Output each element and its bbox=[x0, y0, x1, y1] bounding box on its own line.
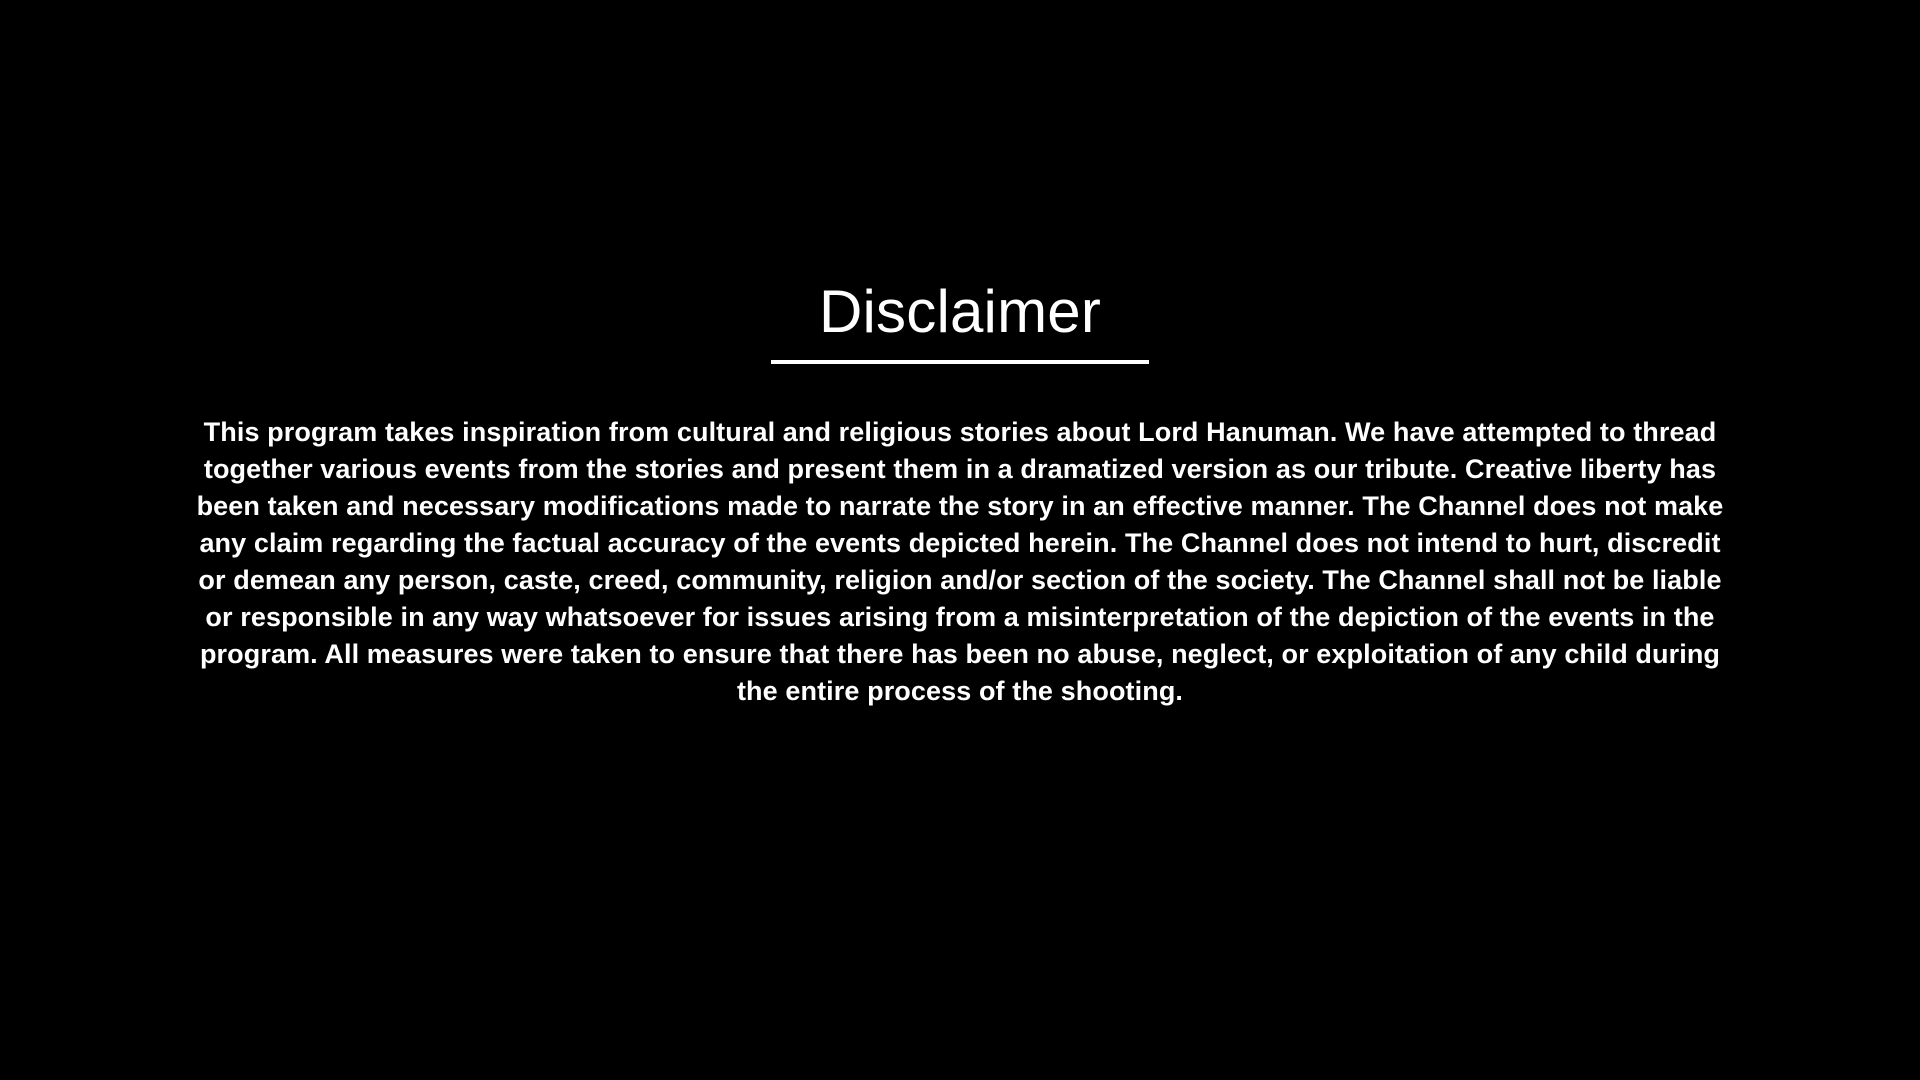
disclaimer-body-text: This program takes inspiration from cult… bbox=[195, 414, 1725, 710]
body-block: This program takes inspiration from cult… bbox=[0, 414, 1920, 710]
page-title: Disclaimer bbox=[0, 278, 1920, 346]
title-block: Disclaimer bbox=[0, 278, 1920, 364]
title-underline-divider bbox=[771, 360, 1149, 364]
disclaimer-slide: Disclaimer This program takes inspiratio… bbox=[0, 0, 1920, 1080]
